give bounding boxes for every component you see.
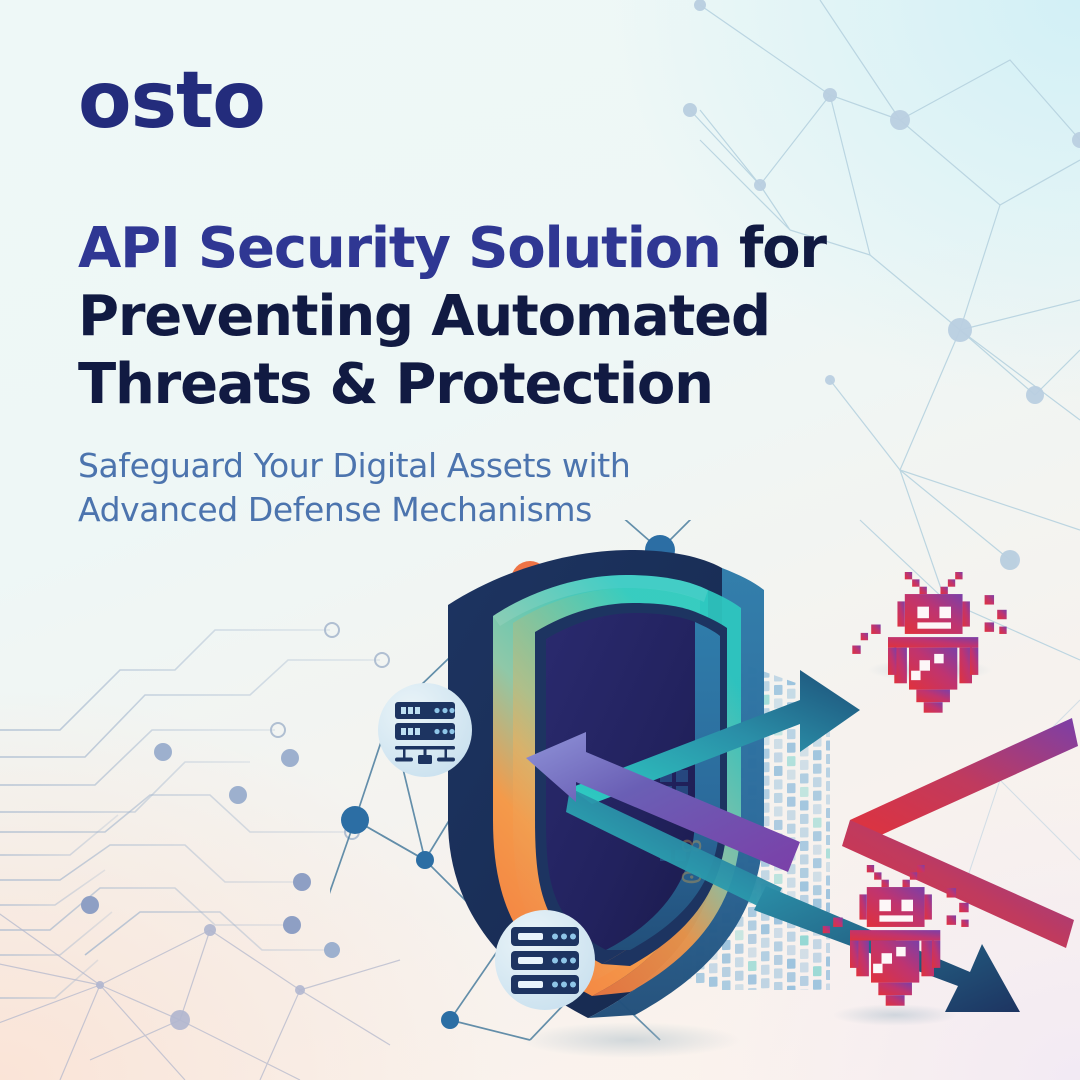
- firewall-cell: [839, 771, 848, 781]
- firewall-cell: [735, 957, 744, 967]
- headline-line-1-rest: for: [721, 216, 826, 281]
- firewall-cell: [774, 671, 783, 681]
- firewall-cell: [761, 938, 770, 948]
- firewall-cell: [839, 731, 848, 741]
- firewall-cell: [787, 729, 796, 739]
- firewall-cell: [774, 698, 783, 708]
- firewall-cell: [787, 783, 796, 793]
- network-node: [441, 1011, 459, 1029]
- firewall-cell: [774, 793, 783, 803]
- firewall-cell: [826, 956, 835, 966]
- firewall-cell: [826, 889, 835, 899]
- firewall-cell: [800, 854, 809, 864]
- firewall-cell: [774, 658, 783, 668]
- firewall-cell: [839, 744, 848, 754]
- firewall-cell: [722, 980, 731, 990]
- firewall-cell: [800, 841, 809, 851]
- firewall-cell: [813, 966, 822, 976]
- firewall-cell: [787, 959, 796, 969]
- shield-shadow: [520, 1022, 740, 1058]
- firewall-cell: [800, 787, 809, 797]
- firewall-cell: [826, 794, 835, 804]
- firewall-cell: [787, 770, 796, 780]
- firewall-cell: [813, 750, 822, 760]
- firewall-cell: [735, 971, 744, 981]
- firewall-cell: [774, 766, 783, 776]
- firewall-cell: [826, 767, 835, 777]
- firewall-cell: [839, 677, 848, 687]
- firewall-cell: [774, 820, 783, 830]
- network-node: [341, 806, 369, 834]
- firewall-cell: [787, 689, 796, 699]
- firewall-cell: [813, 831, 822, 841]
- firewall-cell: [761, 992, 770, 1002]
- firewall-cell: [774, 685, 783, 695]
- firewall-cell: [774, 995, 783, 1005]
- firewall-cell: [735, 984, 744, 994]
- firewall-cell: [813, 777, 822, 787]
- subtitle-line-1: Safeguard Your Digital Assets with: [78, 444, 778, 488]
- firewall-cell: [826, 983, 835, 993]
- firewall-cell: [826, 943, 835, 953]
- firewall-cell: [774, 752, 783, 762]
- firewall-cell: [839, 852, 848, 862]
- firewall-cell: [787, 824, 796, 834]
- firewall-cell: [839, 785, 848, 795]
- firewall-cell: [839, 987, 848, 997]
- firewall-cell: [826, 740, 835, 750]
- firewall-cell: [787, 972, 796, 982]
- firewall-cell: [839, 879, 848, 889]
- firewall-cell: [826, 835, 835, 845]
- firewall-cell: [709, 963, 718, 973]
- firewall-cell: [787, 810, 796, 820]
- firewall-cell: [839, 974, 848, 984]
- headline-accent: API Security Solution: [78, 216, 721, 281]
- server-node-upper: [378, 683, 472, 777]
- firewall-cell: [787, 986, 796, 996]
- firewall-cell: [748, 947, 757, 957]
- firewall-cell: [774, 779, 783, 789]
- firewall-cell: [826, 673, 835, 683]
- firewall-cell: [826, 781, 835, 791]
- firewall-cell: [813, 804, 822, 814]
- firewall-cell: [800, 989, 809, 999]
- firewall-cell: [787, 932, 796, 942]
- firewall-cell: [800, 814, 809, 824]
- firewall-cell: [774, 982, 783, 992]
- firewall-cell: [813, 858, 822, 868]
- firewall-cell: [722, 967, 731, 977]
- firewall-cell: [839, 758, 848, 768]
- firewall-cell: [748, 961, 757, 971]
- page-subtitle: Safeguard Your Digital Assets with Advan…: [78, 444, 778, 532]
- firewall-cell: [813, 818, 822, 828]
- firewall-cell: [813, 939, 822, 949]
- firewall-cell: [839, 812, 848, 822]
- firewall-cell: [761, 924, 770, 934]
- firewall-cell: [787, 945, 796, 955]
- headline-line-1: API Security Solution for: [78, 215, 938, 283]
- firewall-cell: [787, 999, 796, 1009]
- firewall-cell: [813, 872, 822, 882]
- firewall-cell: [787, 743, 796, 753]
- firewall-cell: [800, 976, 809, 986]
- firewall-cell: [761, 978, 770, 988]
- firewall-cell: [748, 988, 757, 998]
- poster-canvas: osto API Security Solution for Preventin…: [0, 0, 1080, 1080]
- firewall-cell: [774, 968, 783, 978]
- headline-line-2: Preventing Automated: [78, 283, 938, 351]
- firewall-cell: [826, 997, 835, 1007]
- firewall-cell: [813, 791, 822, 801]
- firewall-cell: [787, 662, 796, 672]
- firewall-cell: [774, 928, 783, 938]
- firewall-cell: [826, 970, 835, 980]
- firewall-cell: [774, 739, 783, 749]
- firewall-cell: [826, 754, 835, 764]
- firewall-cell: [800, 868, 809, 878]
- bot-shadow-bottom: [833, 1004, 957, 1026]
- firewall-cell: [813, 953, 822, 963]
- firewall-cell: [761, 951, 770, 961]
- firewall-cell: [800, 881, 809, 891]
- firewall-cell: [774, 874, 783, 884]
- firewall-cell: [735, 944, 744, 954]
- firewall-cell: [826, 902, 835, 912]
- firewall-cell: [761, 965, 770, 975]
- firewall-cell: [787, 675, 796, 685]
- firewall-cell: [800, 1003, 809, 1013]
- firewall-cell: [774, 941, 783, 951]
- firewall-cell: [813, 980, 822, 990]
- firewall-cell: [722, 953, 731, 963]
- firewall-cell: [826, 821, 835, 831]
- page-title: API Security Solution for Preventing Aut…: [78, 215, 938, 419]
- firewall-cell: [696, 973, 705, 983]
- firewall-cell: [813, 669, 822, 679]
- firewall-cell: [800, 949, 809, 959]
- firewall-cell: [774, 806, 783, 816]
- firewall-cell: [813, 845, 822, 855]
- firewall-cell: [839, 798, 848, 808]
- firewall-cell: [787, 797, 796, 807]
- constellation-nodes-bottom-left: [96, 924, 305, 1030]
- firewall-cell: [800, 962, 809, 972]
- firewall-cell: [800, 760, 809, 770]
- firewall-cell: [813, 993, 822, 1003]
- firewall-cell: [748, 974, 757, 984]
- firewall-cell: [813, 1007, 822, 1017]
- firewall-cell: [826, 862, 835, 872]
- firewall-cell: [826, 808, 835, 818]
- firewall-cell: [839, 906, 848, 916]
- bot-icon-top: [852, 572, 1006, 713]
- network-node: [416, 851, 434, 869]
- server-node-lower: [495, 910, 595, 1010]
- headline-line-3: Threats & Protection: [78, 351, 938, 419]
- firewall-cell: [826, 848, 835, 858]
- firewall-cell: [787, 756, 796, 766]
- firewall-cell: [800, 935, 809, 945]
- firewall-cell: [735, 930, 744, 940]
- firewall-cell: [800, 827, 809, 837]
- firewall-cell: [748, 934, 757, 944]
- firewall-cell: [839, 960, 848, 970]
- firewall-cell: [774, 955, 783, 965]
- firewall-cell: [826, 875, 835, 885]
- firewall-cell: [813, 885, 822, 895]
- firewall-cell: [787, 878, 796, 888]
- hero-illustration: 8 0: [330, 520, 1080, 1080]
- firewall-cell: [839, 947, 848, 957]
- firewall-cell: [800, 800, 809, 810]
- firewall-cell: [800, 773, 809, 783]
- firewall-cell: [813, 764, 822, 774]
- firewall-cell: [839, 893, 848, 903]
- firewall-cell: [839, 866, 848, 876]
- brand-logo[interactable]: osto: [78, 62, 265, 140]
- firewall-cell: [709, 977, 718, 987]
- firewall-cell: [748, 920, 757, 930]
- circuit-traces-left: [0, 630, 380, 998]
